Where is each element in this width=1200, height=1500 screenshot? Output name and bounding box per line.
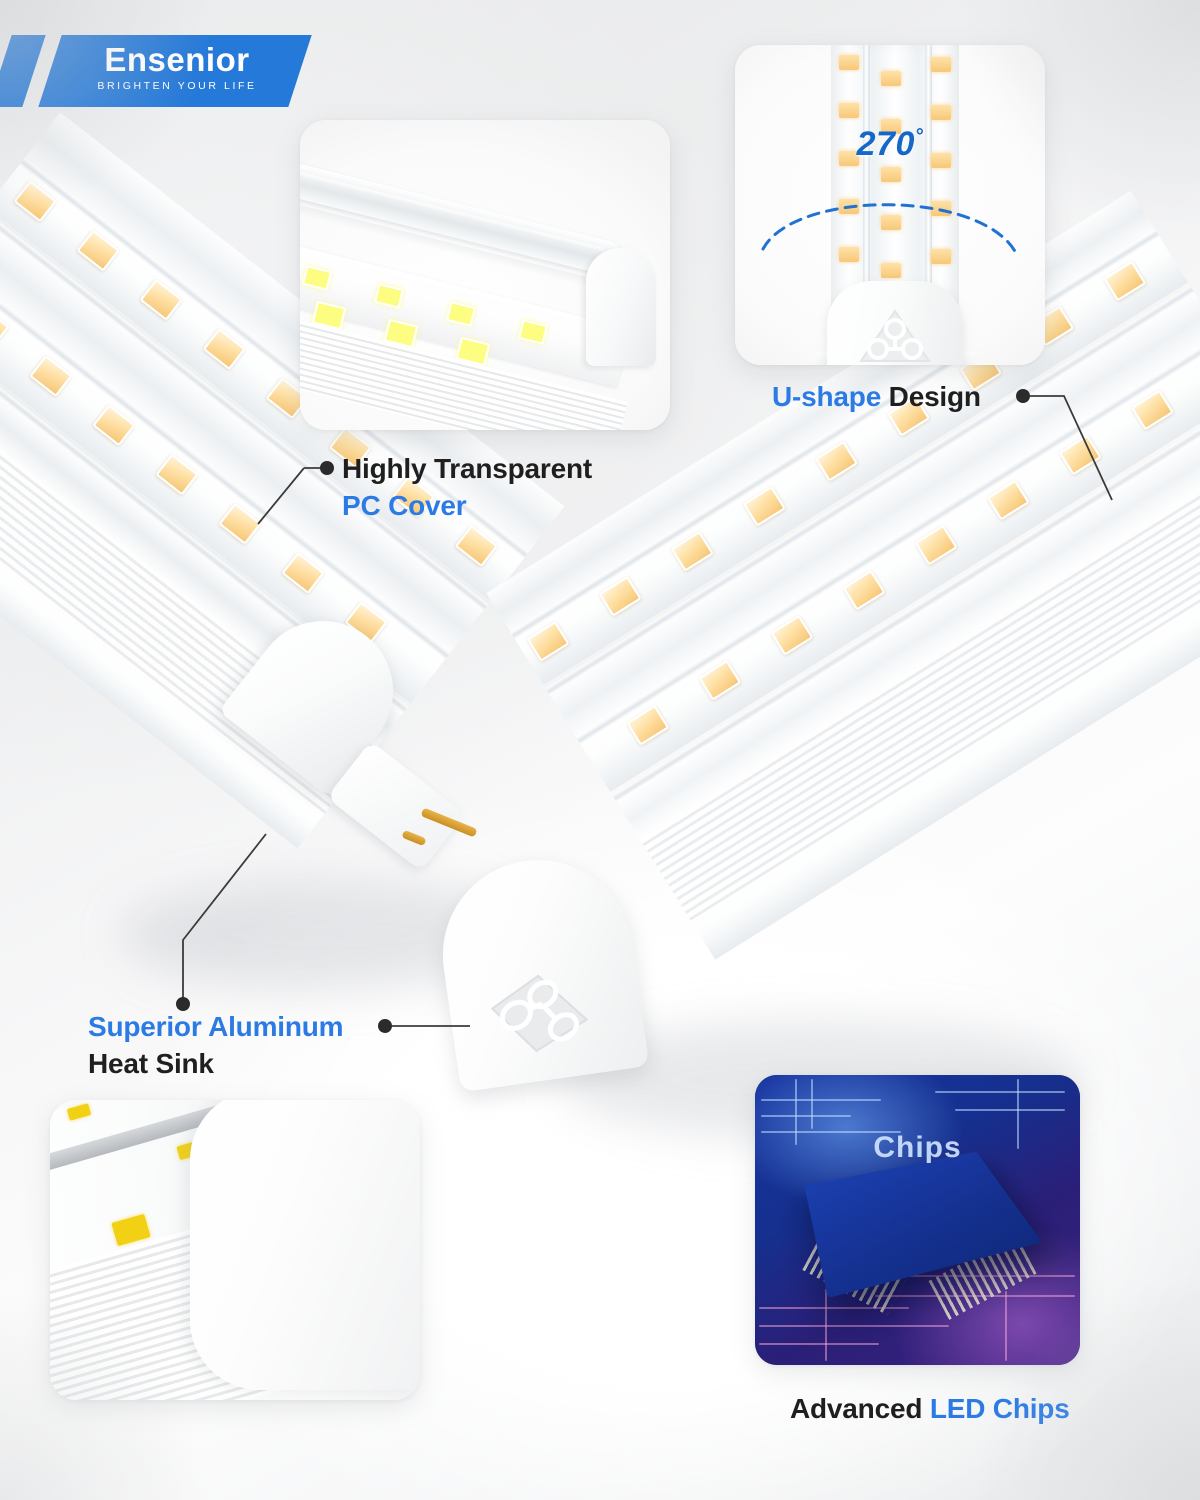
callout-u-shape: U-shape Design (772, 378, 981, 415)
tri-lobe-vent-icon (857, 307, 933, 365)
brand-name: Ensenior (62, 41, 292, 79)
leader-dot-heat-sink-right (378, 1019, 392, 1033)
brand-tagline: BRIGHTEN YOUR LIFE (62, 79, 292, 93)
callout-pc-cover-line1: Highly Transparent (342, 450, 592, 487)
bi-pin-connector-endcap (250, 620, 390, 810)
beam-angle-arc (759, 163, 1021, 273)
callout-led-chips-line1: Advanced (790, 1393, 922, 1424)
endcap-front-view (827, 281, 963, 365)
circuit-board-photo: Chips (755, 1075, 1080, 1365)
callout-pc-cover-line2: PC Cover (342, 487, 592, 524)
chip-label: Chips (755, 1131, 1080, 1165)
callout-heat-sink-line2: Heat Sink (88, 1045, 343, 1082)
inset-led-chips: Chips (755, 1075, 1080, 1365)
endcap-part (190, 1100, 420, 1390)
callout-heat-sink: Superior Aluminum Heat Sink (88, 1008, 343, 1082)
inset-pc-cover (300, 120, 670, 430)
callout-pc-cover: Highly Transparent PC Cover (342, 450, 592, 524)
tri-lobe-vent-icon (480, 961, 601, 1061)
callout-u-shape-line1: U-shape (772, 381, 881, 412)
callout-u-shape-line2: Design (889, 381, 981, 412)
tri-lobe-vent-endcap (445, 860, 645, 1090)
logo-accent-shape (0, 35, 46, 107)
inset-heat-sink (50, 1100, 420, 1400)
callout-heat-sink-line1: Superior Aluminum (88, 1008, 343, 1045)
inset-u-shape: 270° (735, 45, 1045, 365)
callout-led-chips: Advanced LED Chips (790, 1390, 1070, 1427)
callout-led-chips-line2: LED Chips (930, 1393, 1070, 1424)
infographic-canvas: 270° (0, 0, 1200, 1500)
beam-angle-label: 270° (735, 125, 1045, 164)
brand-logo: Ensenior BRIGHTEN YOUR LIFE (0, 35, 300, 107)
endcap-part (586, 248, 656, 366)
